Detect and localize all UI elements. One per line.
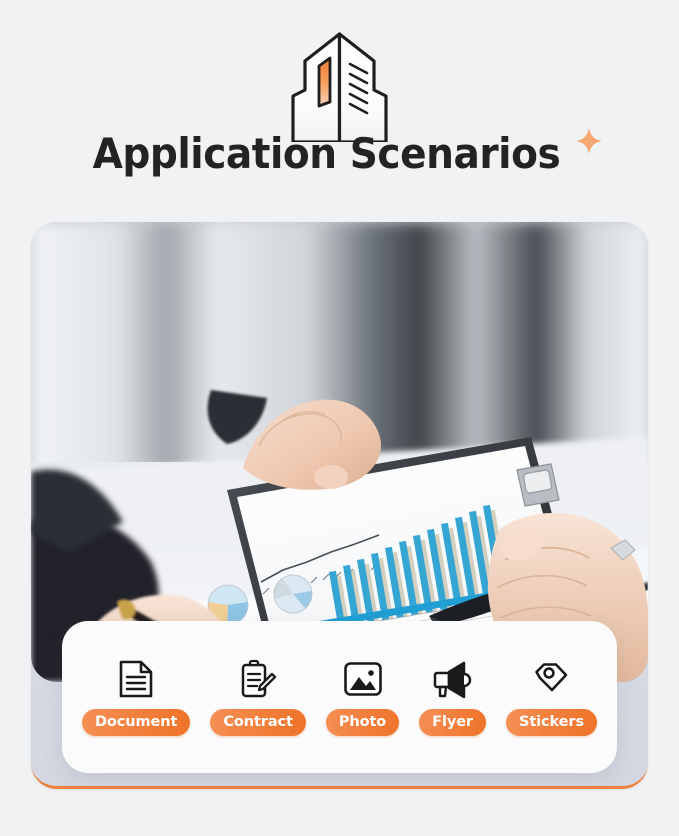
page-title: Application Scenarios xyxy=(93,128,561,180)
document-icon xyxy=(115,658,157,700)
photo-image-icon xyxy=(342,658,384,700)
hero-photo-illustration xyxy=(31,222,648,682)
category-label-contract[interactable]: Contract xyxy=(210,709,306,736)
category-item-photo[interactable]: Photo xyxy=(326,658,399,736)
category-label-photo[interactable]: Photo xyxy=(326,709,399,736)
category-item-flyer[interactable]: Flyer xyxy=(419,658,486,736)
category-item-stickers[interactable]: Stickers xyxy=(506,658,597,736)
category-item-contract[interactable]: Contract xyxy=(210,658,306,736)
category-label-document[interactable]: Document xyxy=(82,709,190,736)
category-list: Document Contract xyxy=(62,621,617,773)
page-header: Application Scenarios xyxy=(0,0,679,212)
category-item-document[interactable]: Document xyxy=(82,658,190,736)
category-card: Document Contract xyxy=(62,621,617,773)
category-label-flyer[interactable]: Flyer xyxy=(419,709,486,736)
sparkle-icon xyxy=(574,126,604,156)
contract-clipboard-icon xyxy=(237,658,279,700)
category-label-stickers[interactable]: Stickers xyxy=(506,709,597,736)
hero-photo xyxy=(31,222,648,682)
price-tag-icon xyxy=(530,658,572,700)
building-logo-icon xyxy=(275,30,405,142)
title-row: Application Scenarios xyxy=(0,128,679,180)
megaphone-icon xyxy=(432,658,474,700)
